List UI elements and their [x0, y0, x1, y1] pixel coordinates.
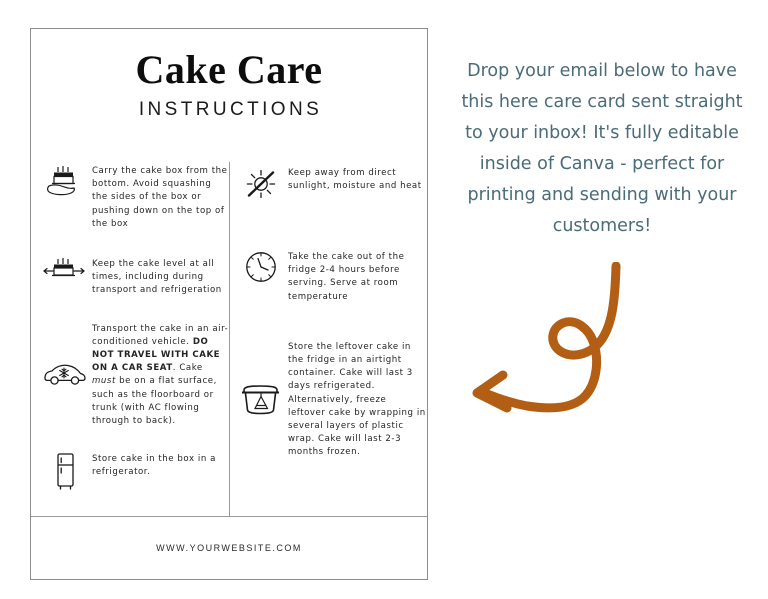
instruction-text: Transport the cake in an air-conditioned…	[92, 322, 229, 429]
no-sun-icon	[234, 166, 288, 202]
instruction-text: Take the cake out of the fridge 2-4 hour…	[288, 250, 427, 304]
website-url: WWW.YOURWEBSITE.COM	[156, 543, 302, 553]
instruction-item: Transport the cake in an air-conditioned…	[38, 322, 229, 429]
instruction-item: Store the leftover cake in the fridge in…	[234, 340, 427, 460]
instruction-item: Keep the cake level at all times, includ…	[38, 257, 229, 298]
cake-on-hand-icon	[38, 164, 92, 198]
car-snowflake-icon	[38, 362, 92, 388]
page-title: Cake Care	[31, 47, 427, 93]
instruction-item: Take the cake out of the fridge 2-4 hour…	[234, 250, 427, 304]
instruction-text: Carry the cake box from the bottom. Avoi…	[92, 164, 229, 231]
instruction-item: Keep away from direct sunlight, moisture…	[234, 166, 427, 202]
page-subtitle: INSTRUCTIONS	[31, 97, 427, 123]
clock-icon	[234, 250, 288, 284]
refrigerator-icon	[38, 452, 92, 492]
curly-arrow-left-icon	[455, 262, 645, 437]
cake-care-card: Cake Care INSTRUCTIONS	[30, 28, 428, 580]
instruction-text: Store cake in the box in a refrigerator.	[92, 452, 229, 479]
instructions-columns: Carry the cake box from the bottom. Avoi…	[31, 162, 427, 517]
instruction-item: Carry the cake box from the bottom. Avoi…	[38, 164, 229, 231]
instruction-text: Keep the cake level at all times, includ…	[92, 257, 229, 298]
promo-panel: Drop your email below to have this here …	[452, 56, 752, 242]
airtight-container-cake-icon	[234, 382, 288, 418]
cake-level-arrows-icon	[38, 257, 92, 285]
instruction-item: Store cake in the box in a refrigerator.	[38, 452, 229, 492]
promo-message: Drop your email below to have this here …	[452, 56, 752, 242]
card-footer: WWW.YOURWEBSITE.COM	[31, 516, 427, 579]
instructions-column-right: Keep away from direct sunlight, moisture…	[229, 162, 427, 517]
instruction-text: Keep away from direct sunlight, moisture…	[288, 166, 427, 193]
card-header: Cake Care INSTRUCTIONS	[31, 29, 427, 123]
instructions-column-left: Carry the cake box from the bottom. Avoi…	[31, 162, 229, 517]
instruction-text: Store the leftover cake in the fridge in…	[288, 340, 427, 460]
